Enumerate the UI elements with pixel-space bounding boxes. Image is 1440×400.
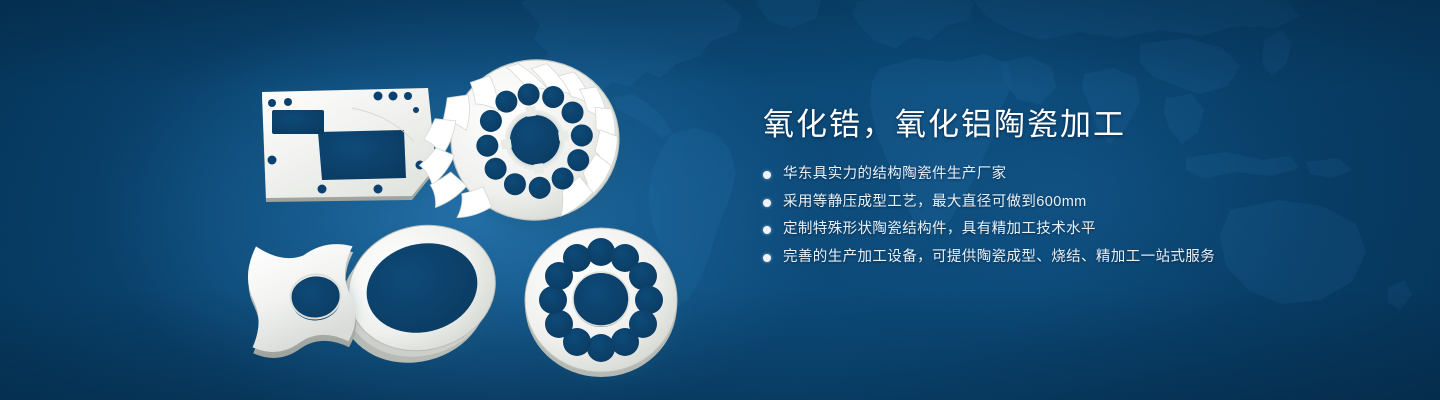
bullet-dot-icon xyxy=(763,254,771,262)
bullet-dot-icon xyxy=(763,171,771,179)
feature-list: 华东具实力的结构陶瓷件生产厂家 采用等静压成型工艺，最大直径可做到600mm 定… xyxy=(763,165,1403,267)
list-item: 华东具实力的结构陶瓷件生产厂家 xyxy=(763,165,1403,185)
feature-text: 完善的生产加工设备，可提供陶瓷成型、烧结、精加工一站式服务 xyxy=(783,248,1215,268)
list-item: 定制特殊形状陶瓷结构件，具有精加工技术水平 xyxy=(763,220,1403,240)
bullet-dot-icon xyxy=(763,226,771,234)
page-title: 氧化锆，氧化铝陶瓷加工 xyxy=(763,106,1403,143)
banner-copy: 氧化锆，氧化铝陶瓷加工 华东具实力的结构陶瓷件生产厂家 采用等静压成型工艺，最大… xyxy=(763,106,1403,267)
feature-text: 定制特殊形状陶瓷结构件，具有精加工技术水平 xyxy=(783,220,1096,240)
list-item: 完善的生产加工设备，可提供陶瓷成型、烧结、精加工一站式服务 xyxy=(763,248,1403,268)
feature-text: 采用等静压成型工艺，最大直径可做到600mm xyxy=(783,193,1087,213)
feature-text: 华东具实力的结构陶瓷件生产厂家 xyxy=(783,165,1007,185)
bullet-dot-icon xyxy=(763,199,771,207)
list-item: 采用等静压成型工艺，最大直径可做到600mm xyxy=(763,193,1403,213)
hero-banner: 氧化锆，氧化铝陶瓷加工 华东具实力的结构陶瓷件生产厂家 采用等静压成型工艺，最大… xyxy=(0,0,1440,400)
